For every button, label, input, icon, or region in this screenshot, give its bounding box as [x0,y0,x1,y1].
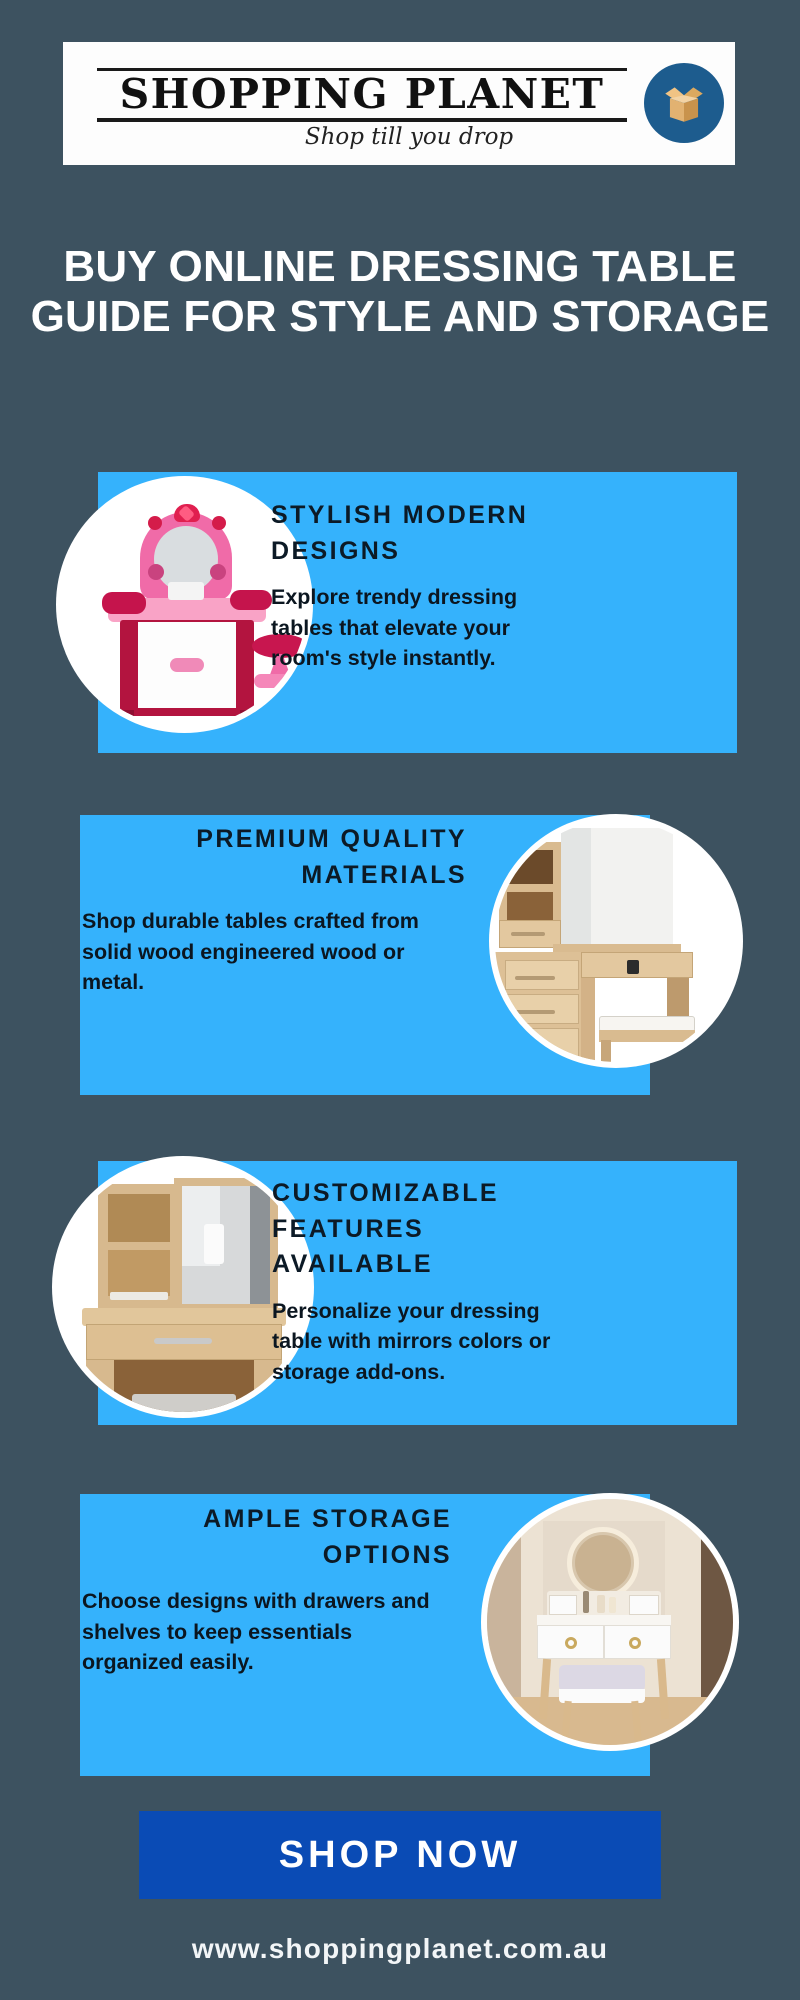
oak-vanity-with-shelves-photo [58,1162,308,1412]
feature-card-2-title: PREMIUM QUALITY MATERIALS [82,822,467,893]
feature-card-1-text: STYLISH MODERN DESIGNS Explore trendy dr… [271,498,571,674]
white-led-mirror-vanity-photo [487,1499,733,1745]
feature-card-4-title: AMPLE STORAGE OPTIONS [82,1502,452,1573]
feature-card-1-title: STYLISH MODERN DESIGNS [271,498,571,569]
feature-card-4-body: Choose designs with drawers and shelves … [82,1586,452,1678]
open-box-icon [644,63,724,143]
feature-card-4-text: AMPLE STORAGE OPTIONS Choose designs wit… [82,1502,452,1678]
feature-card-1-body: Explore trendy dressing tables that elev… [271,582,571,674]
feature-card-3-text: CUSTOMIZABLE FEATURES AVAILABLE Personal… [272,1176,572,1387]
oak-dressing-table-with-mirror-photo [495,820,737,1062]
wordmark-rule-bottom [97,118,627,122]
brand-tagline: Shop till you drop [239,124,579,150]
shop-now-button[interactable]: SHOP NOW [139,1811,661,1899]
feature-card-2-text: PREMIUM QUALITY MATERIALS Shop durable t… [82,822,467,998]
brand-name: SHOPPING PLANET [97,71,627,118]
brand-logo-banner: SHOPPING PLANET Shop till you drop [63,42,735,165]
brand-wordmark: SHOPPING PLANET [97,68,627,122]
feature-card-3-body: Personalize your dressing table with mir… [272,1296,572,1388]
feature-card-3-title: CUSTOMIZABLE FEATURES AVAILABLE [272,1176,572,1283]
feature-card-2-body: Shop durable tables crafted from solid w… [82,906,467,998]
shop-now-label: SHOP NOW [279,1834,521,1877]
website-url[interactable]: www.shoppingplanet.com.au [20,1933,780,1965]
page-title: BUY ONLINE DRESSING TABLE GUIDE FOR STYL… [20,242,780,342]
